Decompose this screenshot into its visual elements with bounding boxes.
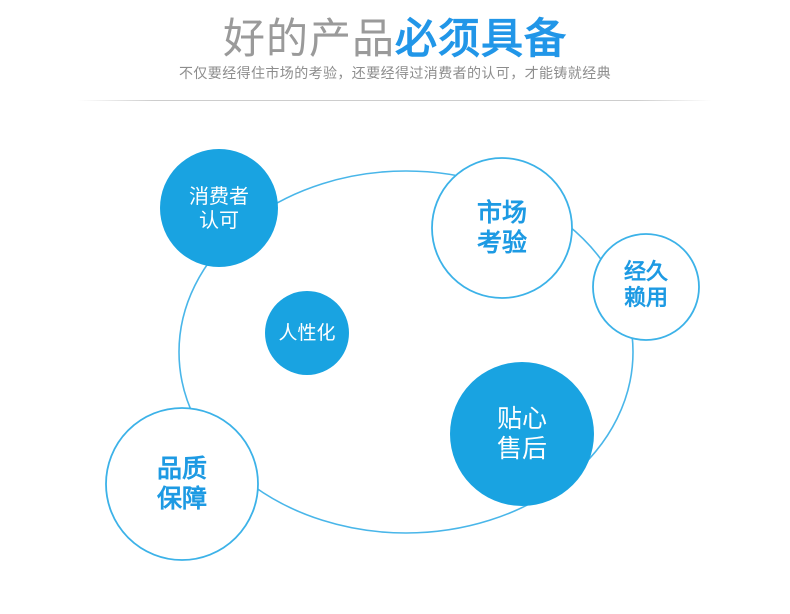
page-title: 好的产品必须具备 (0, 14, 790, 64)
durable-reliable-circle[interactable] (593, 234, 699, 340)
bubble-diagram-canvas (0, 104, 790, 614)
header-section: 好的产品必须具备 不仅要经得住市场的考验，还要经得过消费者的认可，才能铸就经典 (0, 0, 790, 104)
page-title-primary: 好的产品 (223, 14, 395, 63)
quality-guarantee-circle[interactable] (106, 408, 258, 560)
page-title-accent: 必须具备 (395, 14, 567, 63)
caring-after-sales-circle[interactable] (450, 362, 594, 506)
humanized-circle[interactable] (265, 291, 349, 375)
infographic-page: 好的产品必须具备 不仅要经得住市场的考验，还要经得过消费者的认可，才能铸就经典 … (0, 0, 790, 614)
consumer-approval-circle[interactable] (160, 149, 278, 267)
header-divider (78, 100, 712, 101)
page-subtitle: 不仅要经得住市场的考验，还要经得过消费者的认可，才能铸就经典 (0, 63, 790, 83)
bubble-diagram: 消费者 认可 市场 考验 经久 赖用 人性化 贴心 售后 品质 保障 (0, 104, 790, 614)
market-test-circle[interactable] (432, 158, 572, 298)
